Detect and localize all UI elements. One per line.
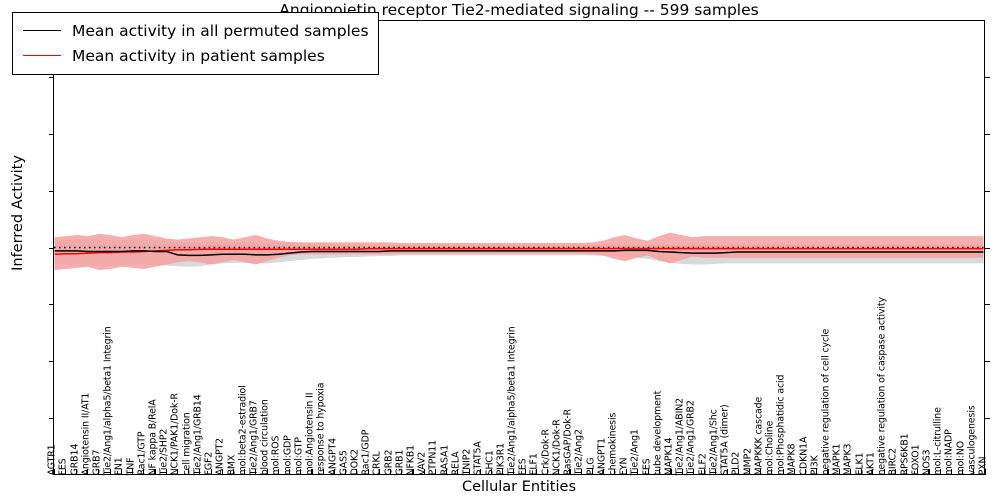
x-tick-mark: [267, 469, 268, 475]
y-axis-label: Inferred Activity: [10, 103, 26, 323]
x-tick-mark: [928, 469, 929, 475]
x-tick-label: ANGPT4: [328, 438, 337, 475]
x-tick-mark: [143, 469, 144, 475]
x-tick-mark: [592, 469, 593, 475]
x-tick-label: mol:L-citrulline: [934, 407, 943, 475]
x-tick-mark: [985, 469, 986, 475]
x-tick-label: MAPK14: [665, 437, 674, 475]
x-tick-label: blood circulation: [261, 399, 270, 475]
x-tick-label: PLG: [586, 457, 595, 475]
x-tick-label: AGTR1: [48, 444, 57, 475]
x-tick-label: FGF2: [205, 451, 214, 475]
x-tick-mark: [850, 469, 851, 475]
x-tick-label: Crk/Dok-R: [541, 429, 550, 475]
x-tick-mark: [244, 469, 245, 475]
x-tick-label: TNIP2: [463, 448, 472, 475]
x-tick-mark: [98, 469, 99, 475]
x-tick-label: PI3K: [810, 455, 819, 475]
x-tick-mark: [614, 469, 615, 475]
x-tick-label: ANGPT1: [597, 438, 606, 475]
x-tick-mark: [749, 469, 750, 475]
x-tick-label: Tie2/Ang1/Shc: [709, 409, 718, 475]
x-tick-label: Tie2/Ang1/GRB7: [250, 400, 259, 475]
x-tick-mark: [480, 469, 481, 475]
x-tick-label: cell migration: [182, 412, 191, 475]
x-tick-label: negative regulation of cell cycle: [822, 328, 831, 475]
x-tick-label: Tie2/Ang1/GRB14: [194, 394, 203, 475]
x-tick-mark: [940, 469, 941, 475]
x-tick-label: Tie2/Ang1/alpha5/beta1 Integrin: [104, 326, 113, 475]
x-tick-label: PTPN11: [429, 440, 438, 475]
x-tick-mark: [693, 469, 694, 475]
x-tick-label: GRB2: [384, 449, 393, 475]
x-tick-mark: [76, 469, 77, 475]
x-tick-mark: [839, 469, 840, 475]
x-tick-mark: [738, 469, 739, 475]
x-tick-mark: [457, 469, 458, 475]
x-tick-label: FES: [519, 458, 528, 475]
x-tick-mark: [760, 469, 761, 475]
x-tick-label: MAPK8: [788, 443, 797, 475]
y-tick-mark-right: [985, 134, 990, 135]
x-tick-label: NCK1/PAK1/Dok-R: [171, 393, 180, 475]
x-tick-mark: [525, 469, 526, 475]
x-tick-label: GRB14: [70, 443, 79, 475]
x-tick-mark: [211, 469, 212, 475]
x-tick-label: ELK1: [855, 452, 864, 475]
x-tick-mark: [390, 469, 391, 475]
x-tick-label: ELF2: [698, 453, 707, 475]
x-tick-label: CRKL: [373, 451, 382, 475]
x-tick-mark: [659, 469, 660, 475]
x-tick-label: Tie2/SHP2: [160, 428, 169, 475]
x-tick-label: STAT5A (dimer): [721, 404, 730, 475]
x-tick-label: ANGPT2: [216, 438, 225, 475]
x-tick-mark: [255, 469, 256, 475]
x-tick-label: FYN: [620, 457, 629, 475]
x-tick-label: RasGAP/Dok-R: [564, 408, 573, 475]
x-tick-label: response to hypoxia: [317, 382, 326, 475]
x-tick-label: Angiotensin II/AT1: [81, 392, 90, 475]
x-tick-mark: [132, 469, 133, 475]
x-tick-label: MAPK1: [833, 443, 842, 475]
legend-swatch-patient: [23, 55, 61, 56]
legend-entry-permuted: Mean activity in all permuted samples: [20, 18, 369, 43]
y-tick-mark-right: [985, 191, 990, 192]
x-tick-label: PXN: [979, 456, 988, 475]
y-tick-mark-right: [985, 418, 990, 419]
x-tick-mark: [805, 469, 806, 475]
x-tick-mark: [154, 469, 155, 475]
x-tick-mark: [356, 469, 357, 475]
x-tick-label: AKT1: [867, 452, 876, 475]
x-tick-label: mol:Angiotensin II: [306, 392, 315, 475]
x-tick-mark: [222, 469, 223, 475]
x-tick-mark: [715, 469, 716, 475]
x-tick-label: mol:beta2-estradiol: [238, 385, 247, 475]
x-tick-mark: [513, 469, 514, 475]
x-tick-mark: [951, 469, 952, 475]
x-tick-mark: [973, 469, 974, 475]
x-tick-label: Tie2/Ang2: [575, 429, 584, 475]
x-tick-label: Tie2/Ang1/ABIN2: [676, 398, 685, 475]
x-tick-mark: [547, 469, 548, 475]
x-tick-mark: [917, 469, 918, 475]
x-tick-label: FES: [59, 458, 68, 475]
x-tick-mark: [65, 469, 66, 475]
y-tick-mark-right: [985, 77, 990, 78]
x-tick-mark: [469, 469, 470, 475]
x-tick-label: ELF1: [530, 453, 539, 475]
x-tick-mark: [424, 469, 425, 475]
x-tick-mark: [558, 469, 559, 475]
x-axis-label: Cellular Entities: [53, 479, 985, 495]
x-tick-mark: [110, 469, 111, 475]
x-tick-mark: [771, 469, 772, 475]
x-tick-label: NOS3: [923, 449, 932, 475]
x-tick-mark: [895, 469, 896, 475]
x-tick-label: mol:NADP: [945, 429, 954, 475]
x-tick-label: DOK2: [351, 449, 360, 475]
x-tick-label: mol:NO: [956, 441, 965, 475]
x-tick-mark: [648, 469, 649, 475]
x-tick-label: Tie2/Ang1: [631, 429, 640, 475]
x-tick-label: RASA1: [440, 444, 449, 475]
x-tick-mark: [603, 469, 604, 475]
x-tick-mark: [827, 469, 828, 475]
x-tick-mark: [626, 469, 627, 475]
x-tick-label: MAPKKK cascade: [754, 396, 763, 475]
x-tick-mark: [536, 469, 537, 475]
x-tick-mark: [188, 469, 189, 475]
y-tick-mark-right: [985, 361, 990, 362]
x-tick-mark: [311, 469, 312, 475]
x-tick-label: NCK1/Dok-R: [552, 419, 561, 475]
x-tick-mark: [502, 469, 503, 475]
x-tick-label: RELA: [452, 451, 461, 475]
x-tick-mark: [199, 469, 200, 475]
x-tick-mark: [491, 469, 492, 475]
x-tick-mark: [323, 469, 324, 475]
x-tick-mark: [727, 469, 728, 475]
x-tick-label: mol:Choline: [766, 420, 775, 475]
legend-entry-patient: Mean activity in patient samples: [20, 43, 369, 68]
x-tick-label: VAV2: [418, 451, 427, 475]
x-tick-mark: [87, 469, 88, 475]
x-tick-label: FOXO1: [911, 444, 920, 475]
x-tick-label: mol:Phosphatidic acid: [777, 374, 786, 475]
x-tick-mark: [435, 469, 436, 475]
x-tick-mark: [289, 469, 290, 475]
y-tick-mark-right: [985, 248, 990, 249]
x-tick-label: MMP2: [743, 448, 752, 475]
figure: Angiopoietin receptor Tie2-mediated sign…: [0, 0, 1000, 500]
x-tick-label: mol:GTP: [294, 437, 303, 475]
x-tick-label: NF kappa B/RelA: [149, 399, 158, 475]
x-tick-mark: [581, 469, 582, 475]
x-tick-mark: [794, 469, 795, 475]
x-tick-mark: [906, 469, 907, 475]
x-tick-label: FES: [642, 458, 651, 475]
x-tick-label: NFKB1: [407, 445, 416, 475]
x-tick-label: mol:GDP: [283, 435, 292, 475]
x-tick-label: MAPK3: [844, 443, 853, 475]
x-tick-mark: [233, 469, 234, 475]
x-tick-mark: [783, 469, 784, 475]
x-tick-label: CDKN1A: [799, 436, 808, 475]
x-tick-label: GRB1: [395, 449, 404, 475]
x-tick-mark: [412, 469, 413, 475]
x-tick-mark: [401, 469, 402, 475]
x-tick-mark: [334, 469, 335, 475]
x-tick-label: tube development: [653, 390, 662, 475]
x-tick-label: PLD2: [732, 451, 741, 475]
x-tick-mark: [962, 469, 963, 475]
x-tick-mark: [872, 469, 873, 475]
x-tick-label: FN1: [115, 457, 124, 475]
x-tick-mark: [278, 469, 279, 475]
x-tick-label: mol:ROS: [272, 435, 281, 475]
x-tick-mark: [861, 469, 862, 475]
x-tick-mark: [682, 469, 683, 475]
x-tick-label: Tie2/Ang1/GRB2: [687, 400, 696, 475]
x-tick-mark: [345, 469, 346, 475]
x-tick-label: negative regulation of caspase activity: [878, 297, 887, 475]
x-tick-label: TNF: [126, 457, 135, 475]
legend-label-patient: Mean activity in patient samples: [72, 47, 325, 65]
x-tick-label: Rac1/GTP: [137, 431, 146, 475]
x-tick-label: RPS6KB1: [900, 433, 909, 475]
x-tick-mark: [166, 469, 167, 475]
x-tick-mark: [816, 469, 817, 475]
x-tick-label: Tie2/Ang1/alpha5/beta1 Integrin: [508, 326, 517, 475]
x-tick-mark: [300, 469, 301, 475]
x-tick-label: BMX: [227, 454, 236, 475]
x-tick-label: vasculogenesis: [967, 405, 976, 475]
x-tick-mark: [569, 469, 570, 475]
x-tick-label: GRB7: [93, 449, 102, 475]
x-tick-mark: [368, 469, 369, 475]
x-tick-label: Rac1/GDP: [362, 429, 371, 475]
y-tick-mark-right: [985, 304, 990, 305]
x-tick-mark: [704, 469, 705, 475]
x-tick-mark: [379, 469, 380, 475]
legend: Mean activity in all permuted samples Me…: [12, 12, 379, 75]
x-tick-label: PIK3R1: [496, 443, 505, 475]
x-tick-mark: [637, 469, 638, 475]
x-tick-label: SHC1: [485, 450, 494, 475]
x-tick-mark: [54, 469, 55, 475]
legend-label-permuted: Mean activity in all permuted samples: [72, 22, 369, 40]
x-tick-label: STAT5A: [474, 441, 483, 475]
x-tick-label: BIRC2: [889, 448, 898, 475]
x-tick-mark: [177, 469, 178, 475]
x-tick-label: chemokinesis: [609, 412, 618, 475]
x-tick-mark: [884, 469, 885, 475]
x-tick-mark: [121, 469, 122, 475]
x-tick-mark: [446, 469, 447, 475]
legend-swatch-permuted: [23, 30, 61, 31]
x-tick-label: GAS5: [339, 450, 348, 475]
x-tick-mark: [670, 469, 671, 475]
